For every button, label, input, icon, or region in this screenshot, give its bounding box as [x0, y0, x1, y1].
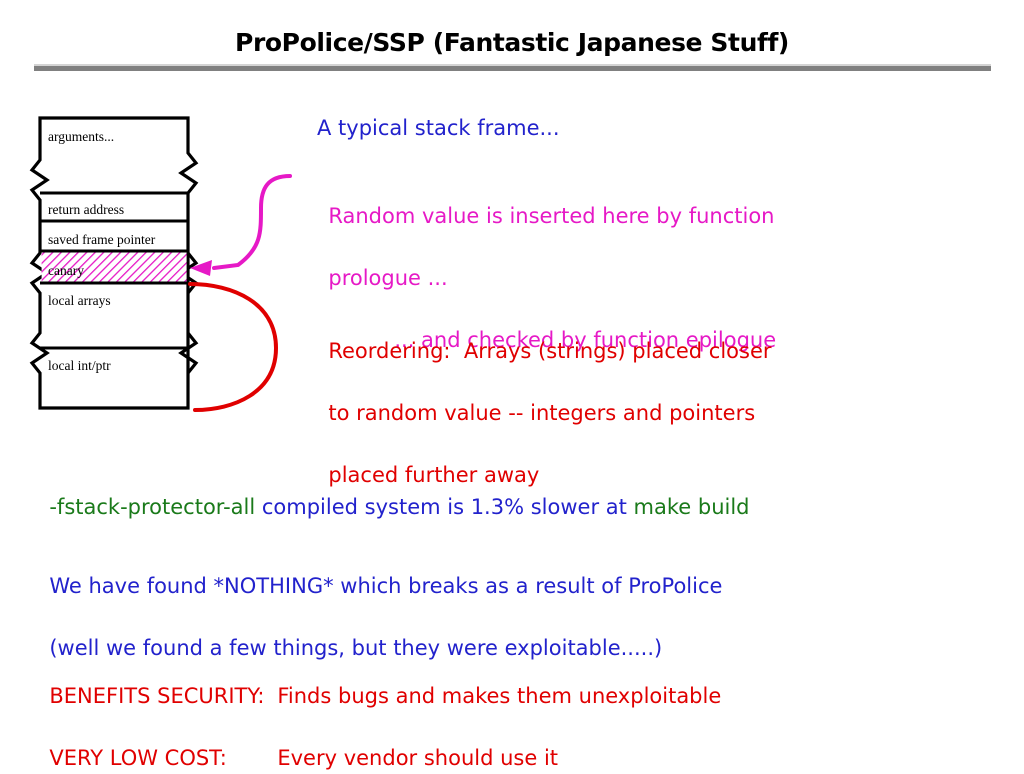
stack-row-arguments-label: arguments... — [48, 129, 114, 144]
benefit-label-1: VERY LOW COST: — [49, 743, 277, 774]
canary-desc-line-1: Random value is inserted here by functio… — [328, 204, 774, 228]
benefits-list: BENEFITS SECURITY:Finds bugs and makes t… — [36, 650, 721, 774]
stack-row-saved-frame-pointer-label: saved frame pointer — [48, 232, 156, 247]
magenta-arrow-head-icon — [190, 260, 212, 276]
compiler-flag: -fstack-protector-all — [49, 495, 255, 519]
reordering-description: Reordering: Arrays (strings) placed clos… — [315, 305, 772, 491]
performance-middle-text: compiled system is 1.3% slower at — [255, 495, 633, 519]
reordering-line-2: to random value -- integers and pointers — [328, 401, 755, 425]
magenta-arrow-to-canary — [214, 176, 290, 268]
page-title: ProPolice/SSP (Fantastic Japanese Stuff) — [0, 28, 1024, 57]
stack-row-canary-label: canary — [48, 263, 84, 278]
nothing-broken-line-1: We have found *NOTHING* which breaks as … — [49, 574, 722, 598]
benefit-value-0: Finds bugs and makes them unexploitable — [277, 684, 721, 708]
title-divider — [34, 64, 991, 71]
stack-row-return-address-label: return address — [48, 202, 124, 217]
stack-frame-diagram: arguments... return address saved frame … — [18, 108, 318, 428]
benefit-label-0: BENEFITS SECURITY: — [49, 681, 277, 712]
canary-desc-line-2: prologue ... — [328, 266, 447, 290]
build-target: make build — [634, 495, 750, 519]
stack-row-local-int-ptr-label: local int/ptr — [48, 358, 111, 373]
reordering-line-1: Reordering: Arrays (strings) placed clos… — [328, 339, 771, 363]
performance-statement: -fstack-protector-all compiled system is… — [36, 465, 750, 521]
stack-row-local-arrays-label: local arrays — [48, 293, 111, 308]
nothing-broken-statement: We have found *NOTHING* which breaks as … — [36, 540, 722, 664]
benefit-value-1: Every vendor should use it — [277, 746, 558, 770]
typical-frame-caption: A typical stack frame... — [317, 114, 560, 142]
red-bracket-locals — [190, 284, 276, 410]
